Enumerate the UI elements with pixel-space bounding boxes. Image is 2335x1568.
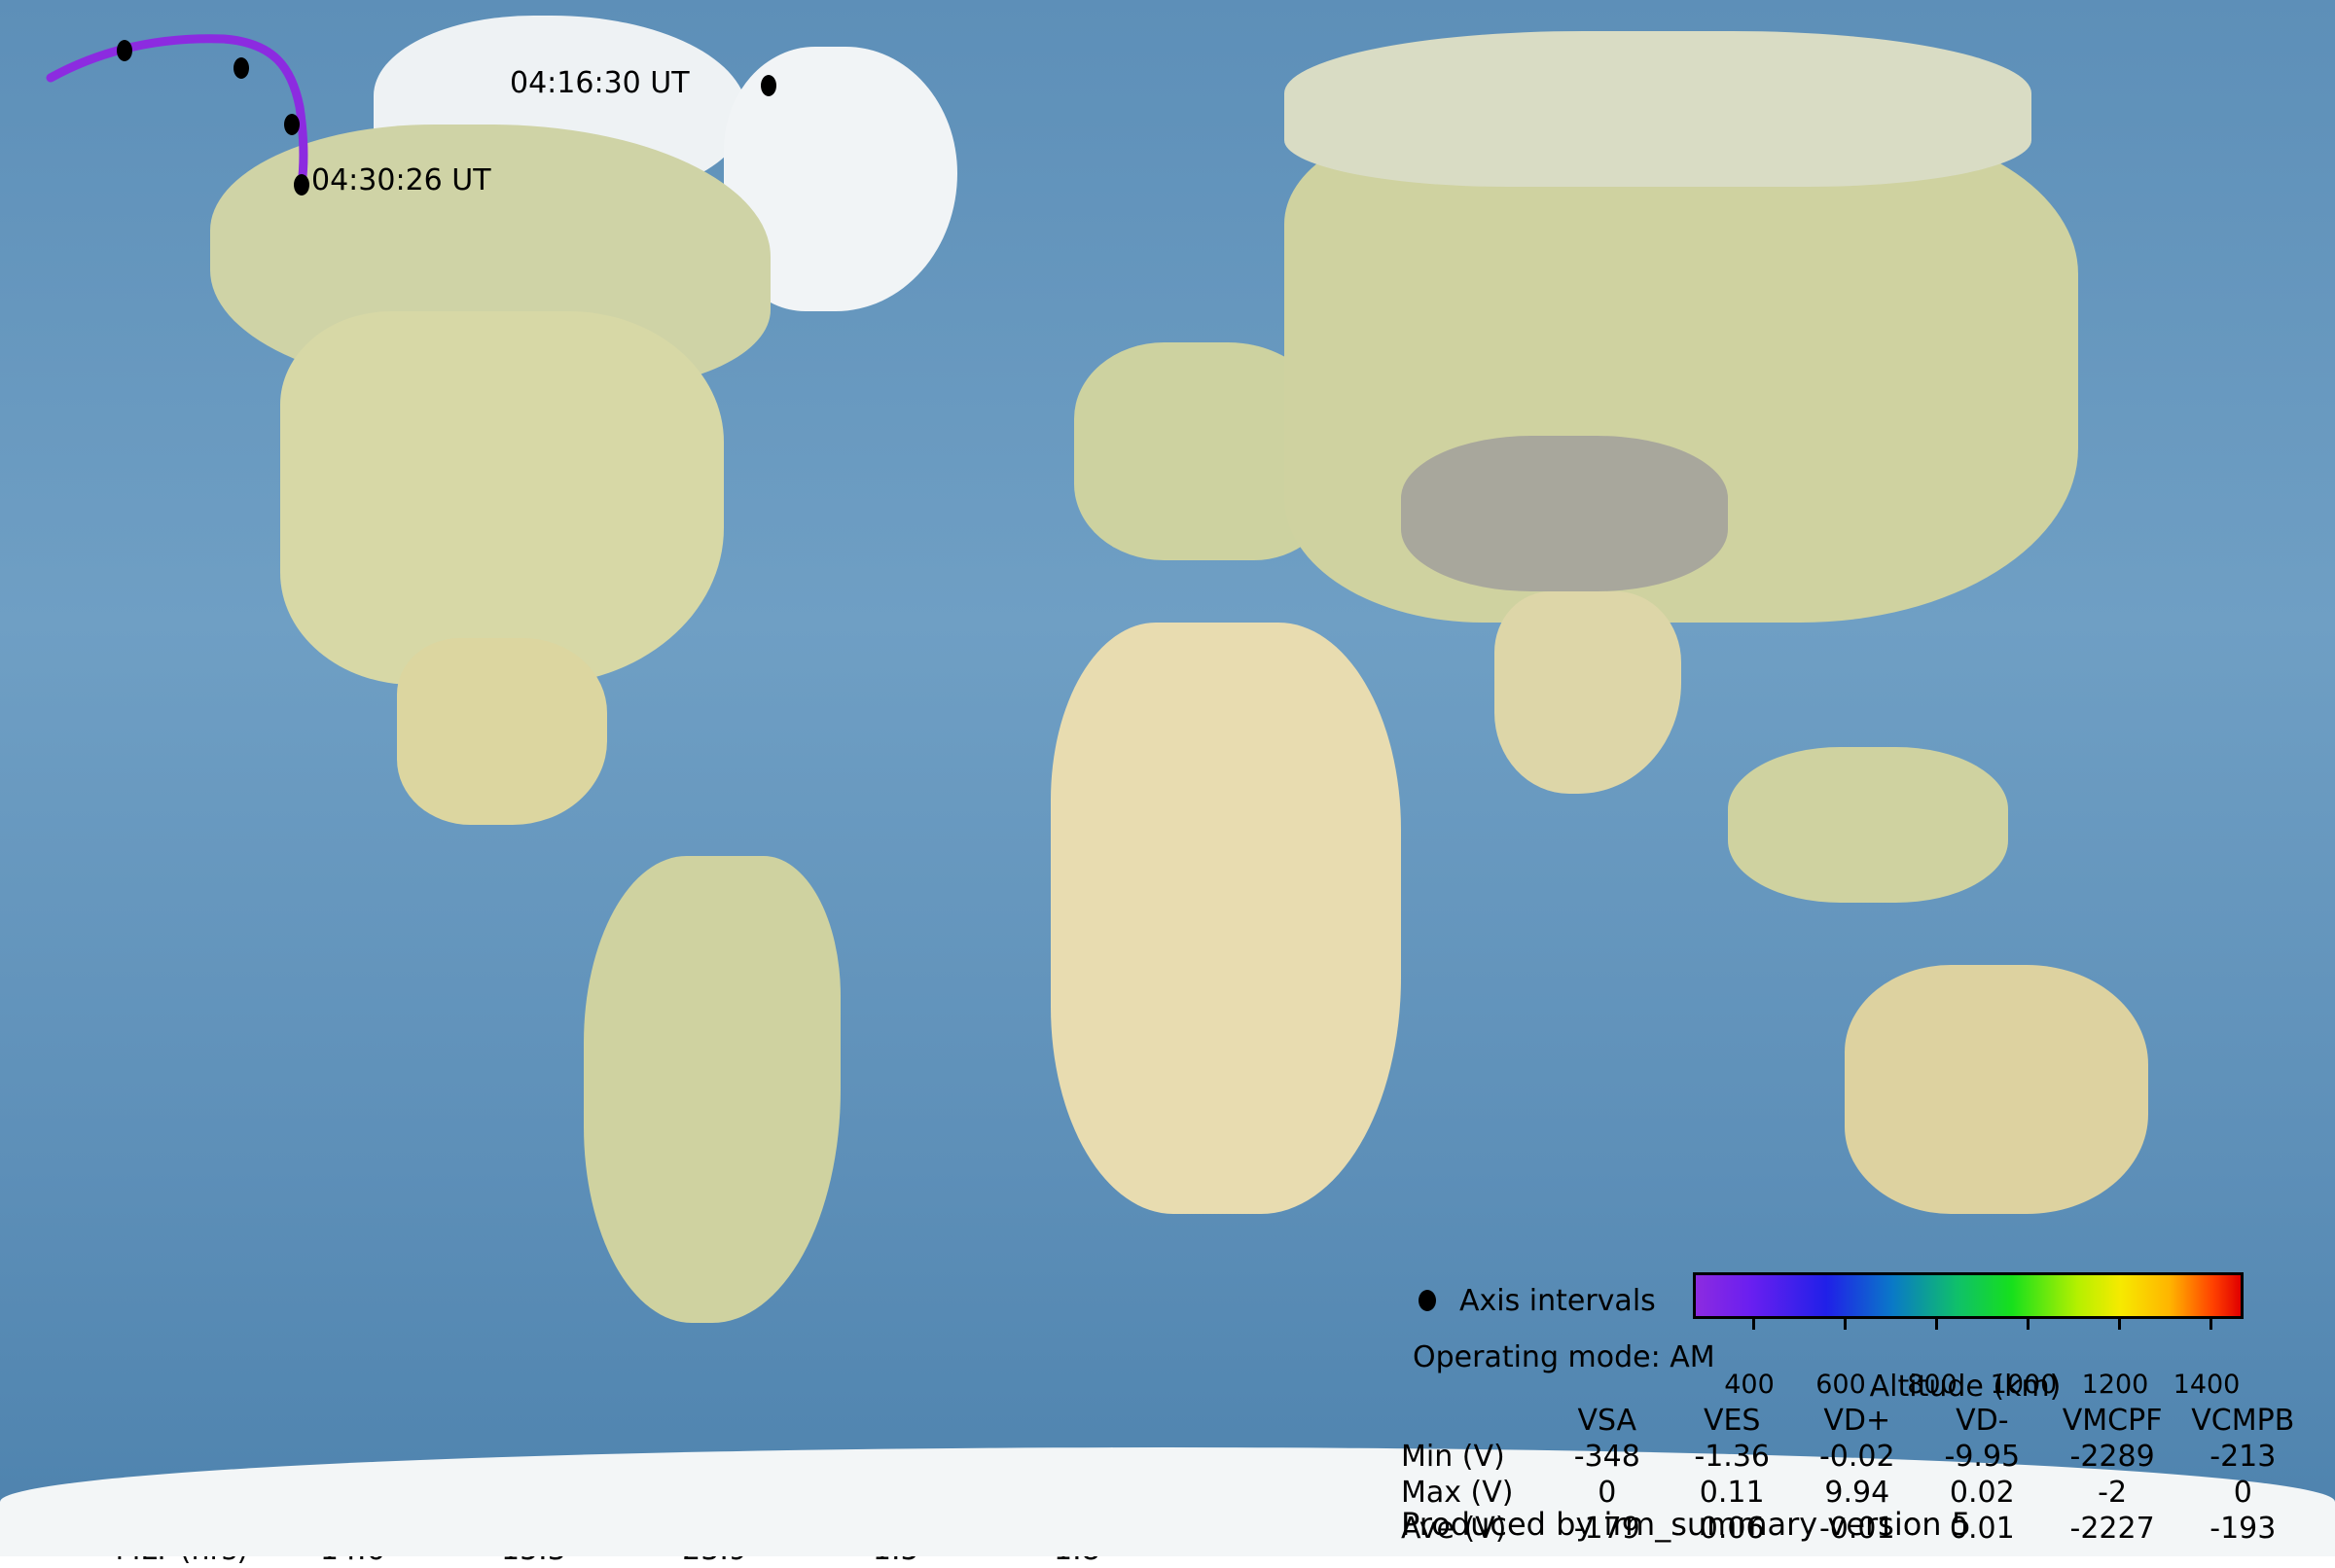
table-row: Min (V) -348 -1.36 -0.02 -9.95 -2289 -21… (1401, 1439, 2306, 1475)
axis-intervals-legend-label: Axis intervals (1459, 1284, 1656, 1318)
altitude-colorbar-label: Altitude (km) (1693, 1370, 2238, 1404)
altitude-colorbar (1693, 1272, 2244, 1319)
operating-mode-label: Operating mode: AM (1413, 1340, 1715, 1374)
footer-produced-by: Produced by irm_summary version 5 (1401, 1506, 1971, 1543)
map-end-time-label: 04:30:26 UT (311, 163, 491, 197)
map-start-time-label: 04:16:30 UT (510, 66, 690, 100)
altitude-colorbar-labels: 400 600 800 1000 1200 1400 (1693, 1313, 2238, 1372)
table-header-row: VSA VES VD+ VD- VMCPF VCMPB (1401, 1403, 2306, 1439)
axis-interval-marker-icon (1416, 1289, 1439, 1312)
ground-track-path (51, 39, 304, 185)
ground-track-map: 04:30:26 UT 04:16:30 UT (0, 0, 823, 473)
